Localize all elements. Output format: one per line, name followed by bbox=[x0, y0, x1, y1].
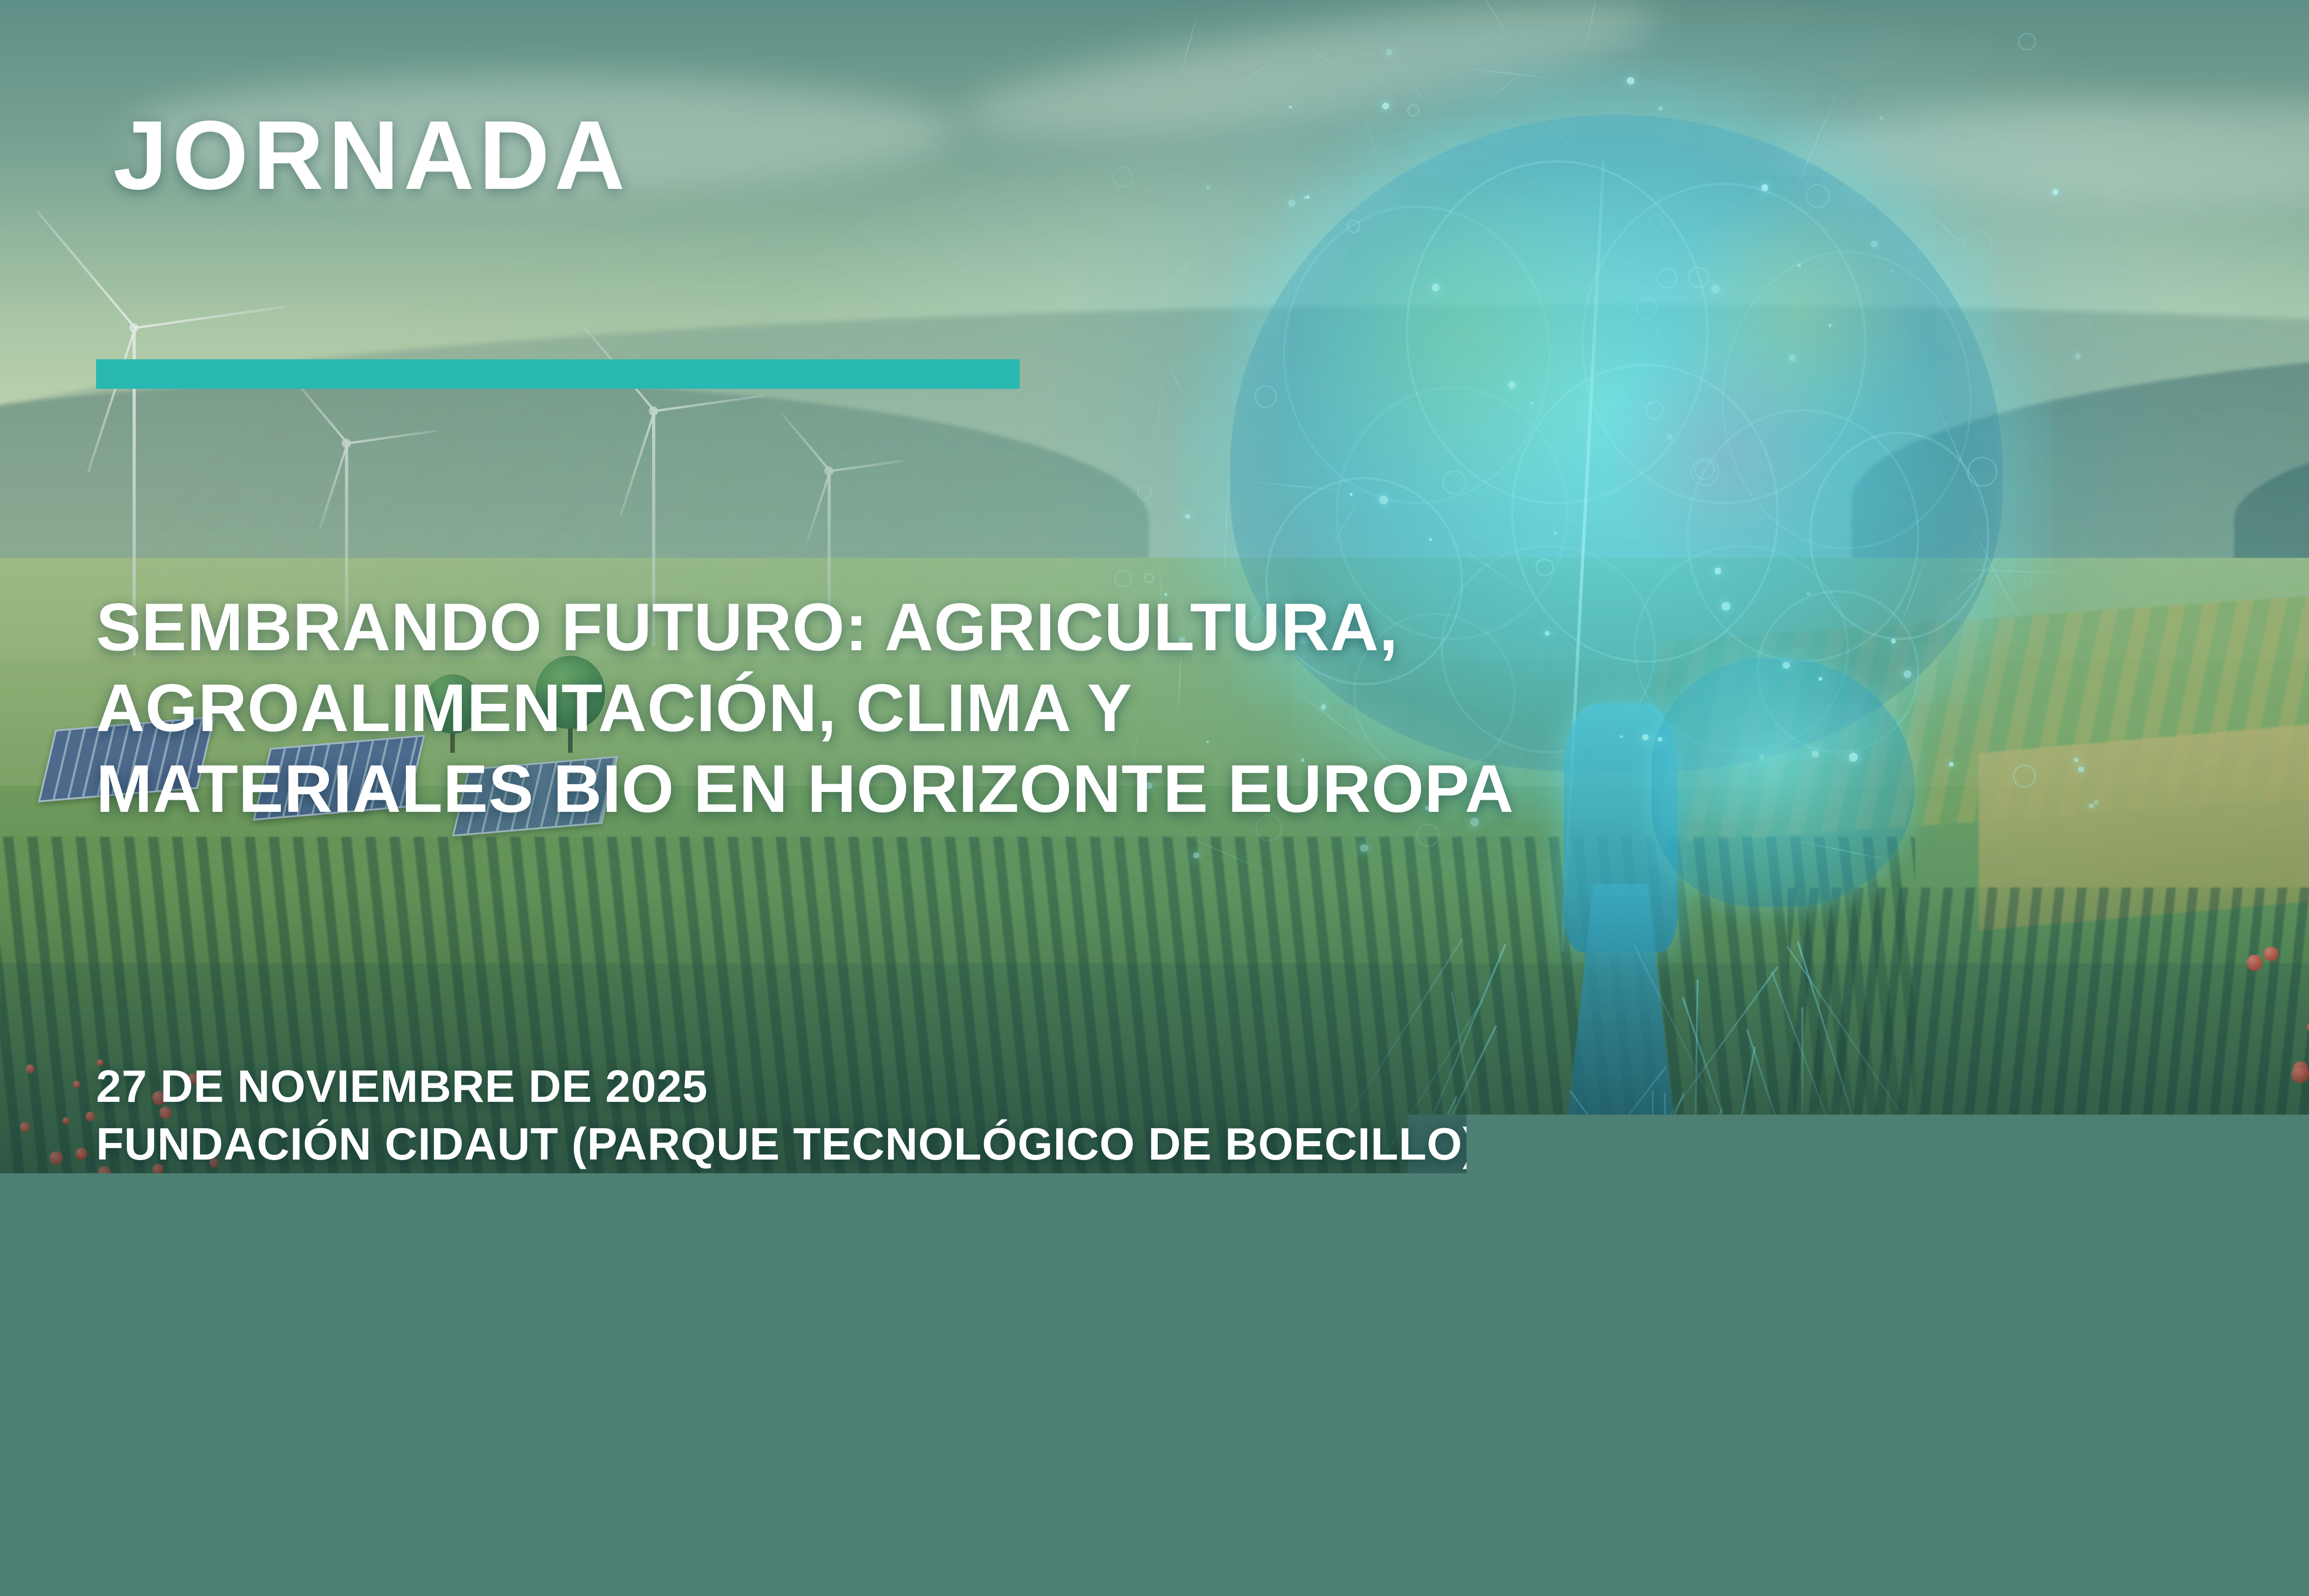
gobierno-plate: GOBIERNO DE ESPAÑA MINISTERIO DE CIENCIA… bbox=[1328, 1386, 1755, 1520]
castilla-leon-shield-icon bbox=[788, 1405, 876, 1526]
hero-banner: JORNADA SEMBRANDO FUTURO: AGRICULTURA, A… bbox=[0, 0, 2309, 1268]
icecyl-letter-e bbox=[610, 1412, 664, 1471]
flag-stripe-red bbox=[1291, 1386, 1303, 1520]
poster-root: JORNADA SEMBRANDO FUTURO: AGRICULTURA, A… bbox=[0, 0, 2309, 1596]
flag-stripe-red bbox=[1316, 1386, 1328, 1520]
page-title: JORNADA bbox=[113, 106, 629, 204]
title-accent-bar bbox=[96, 359, 1020, 389]
ministerio-cell: MINISTERIO DE CIENCIA, INNOVACIÓN Y UNIV… bbox=[1541, 1386, 1755, 1520]
cdti-wordmark: CDTI bbox=[1843, 1378, 2025, 1460]
event-venue: FUNDACIÓN CIDAUT (PARQUE TECNOLÓGICO DE … bbox=[96, 1115, 2220, 1173]
logo-gobierno-espana[interactable]: ★ ★ ★ bbox=[1265, 1386, 1755, 1520]
logo-cdti[interactable]: CDTI INNOVACIÓN bbox=[1773, 1381, 2013, 1524]
cidaut-wordmark: Cidaut bbox=[125, 1447, 291, 1510]
icecyl-tagline: competitividad empresarial bbox=[527, 1483, 675, 1539]
headline-line-2: AGROALIMENTACIÓN, CLIMA Y bbox=[96, 667, 2128, 748]
event-details: 27 DE NOVIEMBRE DE 2025 FUNDACIÓN CIDAUT… bbox=[96, 1058, 2220, 1173]
gobierno-cell: GOBIERNO DE ESPAÑA bbox=[1328, 1386, 1541, 1520]
logo-cidaut[interactable]: Cidaut bbox=[32, 1383, 328, 1540]
crown-icon bbox=[784, 1370, 876, 1410]
headline-line-1: SEMBRANDO FUTURO: AGRICULTURA, bbox=[96, 586, 2128, 667]
label-organiza: ORGANIZA bbox=[52, 1318, 198, 1348]
flag-stripe-yellow bbox=[1303, 1386, 1316, 1520]
ministerio-text: MINISTERIO DE CIENCIA, INNOVACIÓN Y UNIV… bbox=[1554, 1407, 1755, 1499]
logo-icecyl[interactable]: cyl competitividad empresarial bbox=[526, 1392, 767, 1545]
cdti-check-icon bbox=[1773, 1388, 1843, 1473]
logo-junta-castilla-leon[interactable]: Junta de Castilla y León bbox=[748, 1370, 1108, 1564]
eu-stripe-icon: ★ ★ ★ bbox=[1265, 1386, 1291, 1520]
sponsor-footer: ORGANIZA PROGRAMA FINANCIADO POR EN COLA… bbox=[0, 1268, 2309, 1596]
cdti-tagline: INNOVACIÓN bbox=[1861, 1472, 2040, 1500]
icecyl-letter-i bbox=[526, 1413, 551, 1471]
label-colaboracion: EN COLABORACIÓN bbox=[1265, 1318, 1539, 1348]
icecyl-wordmark: cyl bbox=[526, 1392, 736, 1471]
headline-line-3: MATERIALES BIO EN HORIZONTE EUROPA bbox=[96, 748, 2128, 829]
gobierno-text: GOBIERNO DE ESPAÑA bbox=[1402, 1430, 1501, 1476]
junta-wordmark: Junta de Castilla y León bbox=[882, 1435, 1123, 1514]
label-financiado: PROGRAMA FINANCIADO POR bbox=[536, 1318, 946, 1348]
headline: SEMBRANDO FUTURO: AGRICULTURA, AGROALIME… bbox=[96, 586, 2128, 829]
spain-coat-of-arms-icon bbox=[1344, 1409, 1399, 1497]
icecyl-letter-c bbox=[543, 1402, 621, 1481]
event-date: 27 DE NOVIEMBRE DE 2025 bbox=[96, 1058, 2220, 1115]
